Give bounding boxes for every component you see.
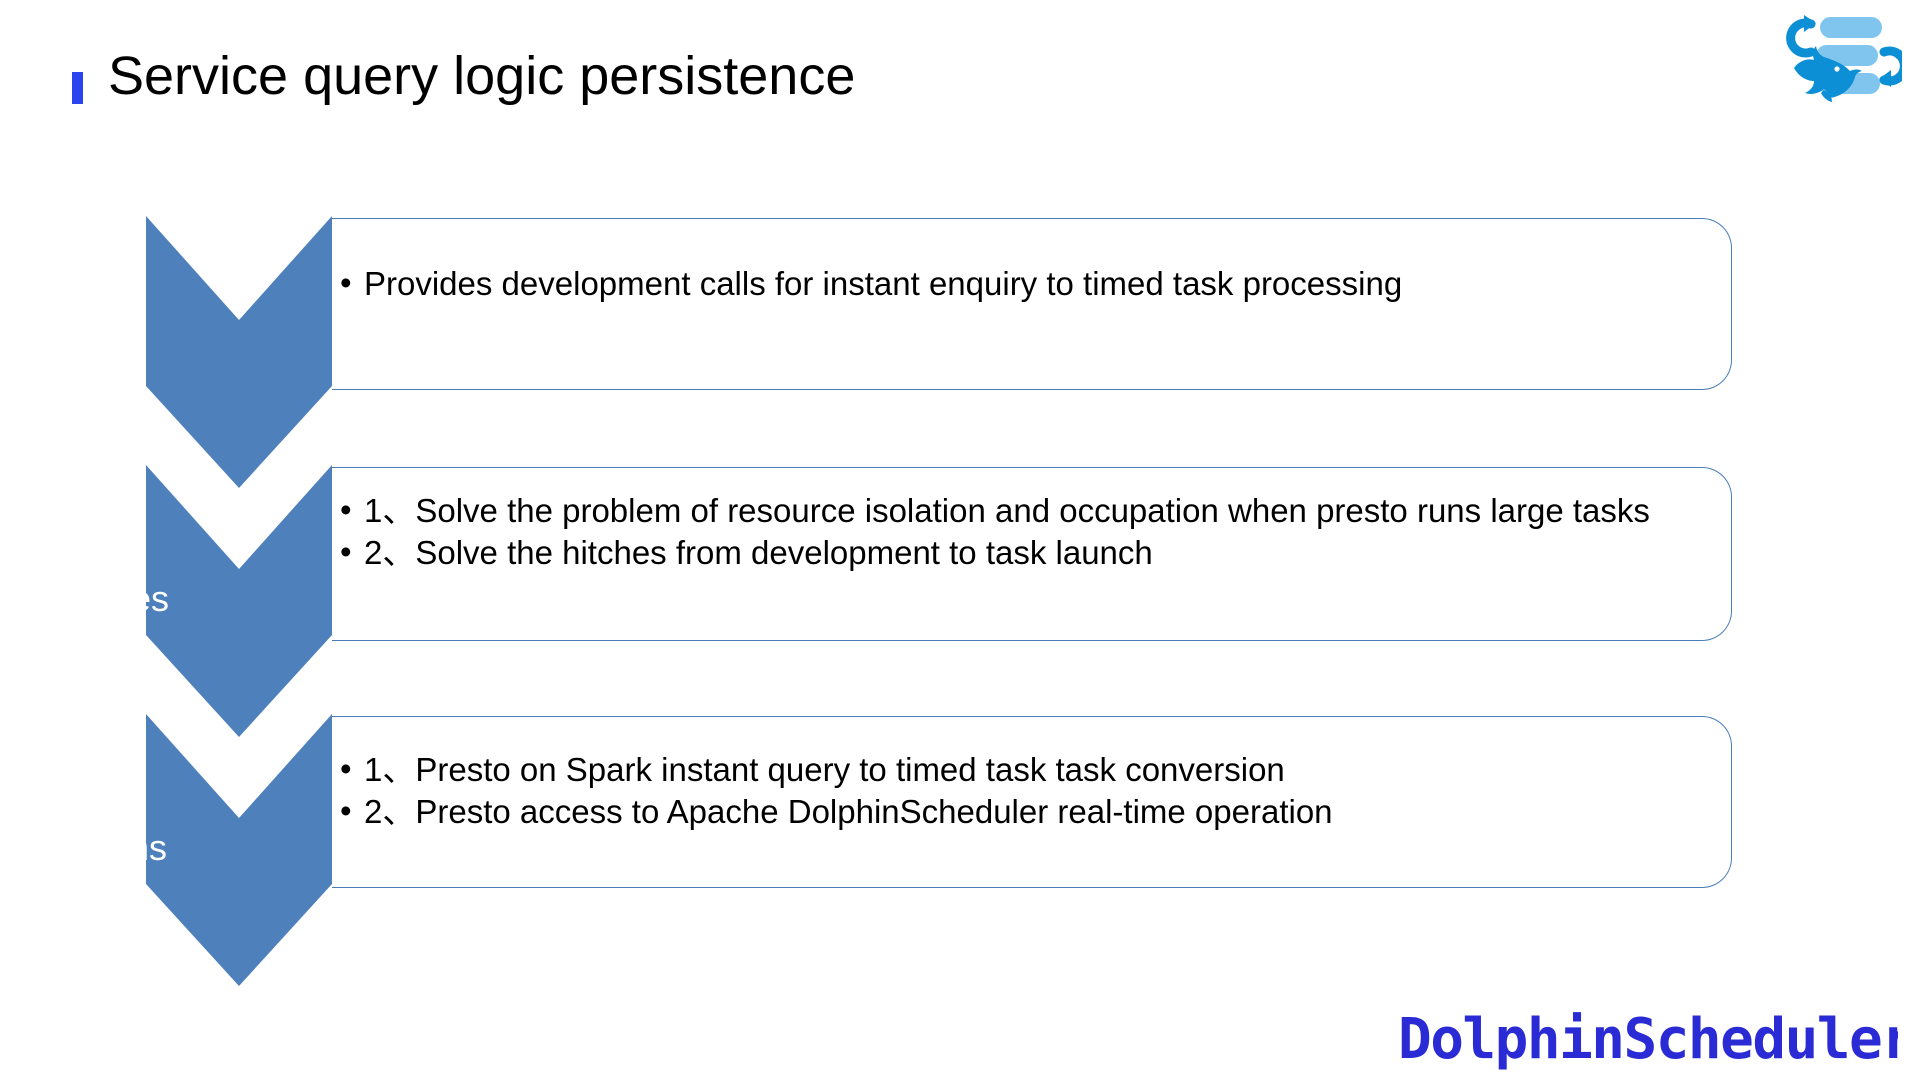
list-item: 2、Solve the hitches from development to … [332, 532, 1705, 574]
chevron-shape [146, 714, 332, 1080]
list-item: 1、Presto on Spark instant query to timed… [332, 749, 1705, 791]
content-box: Provides development calls for instant e… [332, 218, 1732, 390]
list-item: 2、Presto access to Apache DolphinSchedul… [332, 791, 1705, 833]
content-box: 1、Solve the problem of resource isolatio… [332, 467, 1732, 641]
brand-wordmark-text: DolphinScheduler [1398, 1007, 1898, 1072]
bullet-list: 1、Presto on Spark instant query to timed… [332, 749, 1705, 832]
page-title: Service query logic persistence [108, 46, 855, 106]
dolphinscheduler-logo-icon [1780, 8, 1902, 104]
list-item: Provides development calls for instant e… [332, 263, 1705, 305]
list-item: 1、Solve the problem of resource isolatio… [332, 490, 1705, 532]
bullet-list: 1、Solve the problem of resource isolatio… [332, 490, 1705, 573]
title-accent-bar [72, 72, 83, 104]
content-box: 1、Presto on Spark instant query to timed… [332, 716, 1732, 888]
bullet-list: Provides development calls for instant e… [332, 263, 1705, 305]
brand-wordmark: DolphinScheduler [1398, 1002, 1898, 1074]
slide-canvas: Service query logic persistence [0, 0, 1920, 1080]
